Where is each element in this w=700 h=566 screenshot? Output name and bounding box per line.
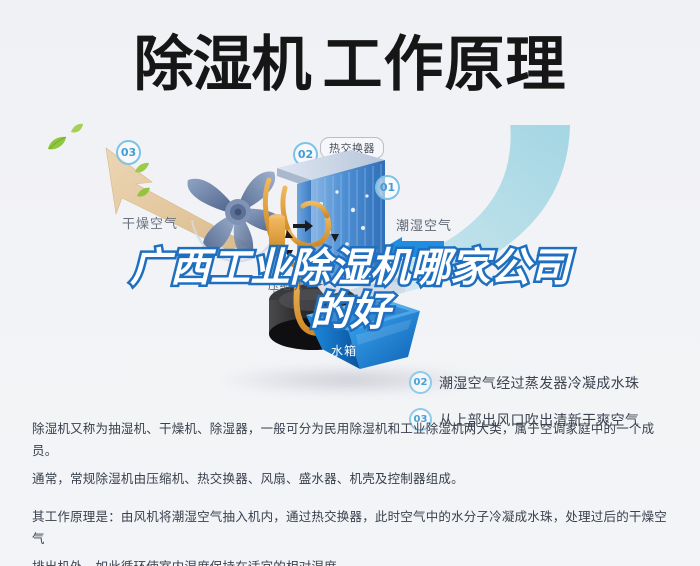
- label-compressor: 压缩机: [268, 277, 303, 293]
- label-humid-air: 潮湿空气: [396, 215, 452, 234]
- page-root: 除湿机工作原理: [0, 0, 700, 566]
- page-title-part1: 除湿机: [134, 30, 311, 100]
- leaf-icon: [70, 122, 84, 140]
- paragraph-1-line-1: 除湿机又称为抽湿机、干燥机、除湿器，一般可分为民用除湿机和工业除湿机两大类，属于…: [32, 418, 672, 462]
- page-title-part2: 工作原理: [323, 30, 567, 100]
- badge-01: 01: [375, 175, 400, 200]
- label-dry-air: 干燥空气: [122, 213, 178, 232]
- leaf-icon: [46, 135, 68, 158]
- badge-01-label: 01: [380, 181, 395, 194]
- paragraph-1-line-2: 通常，常规除湿机由压缩机、热交换器、风扇、盛水器、机壳及控制器组成。: [32, 468, 672, 490]
- leaf-icon: [136, 186, 151, 204]
- list-item: 02 潮湿空气经过蒸发器冷凝成水珠: [409, 372, 689, 393]
- badge-03: 03: [116, 140, 141, 165]
- paragraph-spacer: [32, 496, 672, 506]
- body-copy: 除湿机又称为抽湿机、干燥机、除湿器，一般可分为民用除湿机和工业除湿机两大类，属于…: [32, 418, 672, 566]
- badge-03-label: 03: [121, 146, 136, 159]
- dehumidifier-diagram: 03 干燥空气: [0, 120, 700, 410]
- page-title: 除湿机工作原理: [0, 26, 700, 104]
- paragraph-2-line-1: 其工作原理是：由风机将潮湿空气抽入机内，通过热交换器，此时空气中的水分子冷凝成水…: [32, 506, 672, 550]
- legend-text: 潮湿空气经过蒸发器冷凝成水珠: [439, 373, 639, 393]
- humid-air-inflow-arrow: [380, 237, 444, 266]
- paragraph-2-line-2: 排出机外，如此循环使室内湿度保持在适宜的相对湿度。: [32, 556, 672, 566]
- water-tank-illustration: [300, 295, 425, 385]
- legend-badge: 02: [409, 371, 432, 394]
- leaf-icon: [134, 162, 150, 180]
- label-water-tank: 水箱: [331, 342, 357, 359]
